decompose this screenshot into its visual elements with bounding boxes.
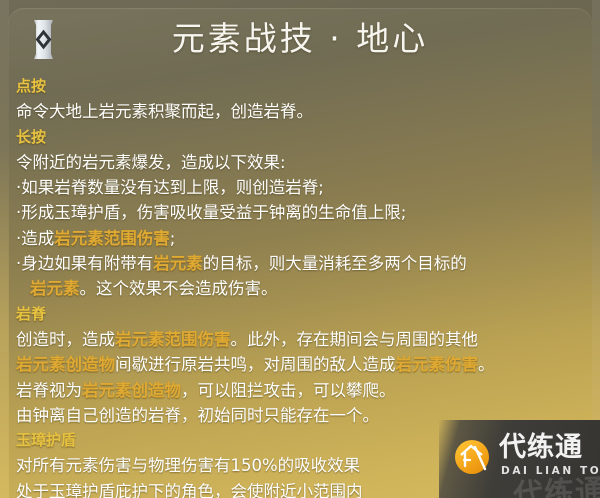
description-line: 岩元素创造物间歇进行原岩共鸣，对周围的敌人造成岩元素伤害。 — [16, 352, 592, 377]
body-text-run: ·身边如果有附带有 — [16, 254, 153, 273]
description-line: ·如果岩脊数量没有达到上限，则创造岩脊; — [16, 175, 592, 200]
description-line: 创造时，造成岩元素范围伤害。此外，存在期间会与周围的其他 — [16, 327, 592, 352]
dailiantong-logo-icon — [451, 436, 493, 478]
description-line: 岩元素。这个效果不会造成伤害。 — [16, 276, 592, 301]
highlight-term: 岩元素范围伤害 — [115, 330, 231, 349]
description-line: 岩脊视为岩元素创造物，可以阻拦攻击，可以攀爬。 — [16, 378, 592, 403]
highlight-term: 岩元素创造物 — [16, 355, 115, 374]
body-text-run: 处于玉璋护盾庇护下的角色，会使附近小范围内 — [16, 482, 363, 498]
highlight-term: 岩元素 — [16, 279, 80, 298]
description-line: ·身边如果有附带有岩元素的目标，则大量消耗至多两个目标的 — [16, 251, 592, 276]
highlight-term: 岩元素范围伤害 — [54, 229, 170, 248]
highlight-term: 岩元素伤害 — [396, 355, 479, 374]
body-text-run: ，可以阻拦攻击，可以攀爬。 — [181, 381, 396, 400]
body-text-run: ; — [170, 229, 176, 248]
section-heading: 岩脊 — [16, 302, 592, 327]
panel-header: 元素战技 · 地心 — [8, 8, 592, 74]
watermark-ghost-text: 代练通 — [512, 466, 600, 498]
description-line: 命令大地上岩元素积聚而起，创造岩脊。 — [16, 99, 592, 124]
body-text-run: 岩脊视为 — [16, 381, 82, 400]
section-heading: 点按 — [16, 74, 592, 99]
body-text-run: 对所有元素伤害与物理伤害有150%的吸收效果 — [16, 456, 360, 475]
skill-title: 元素战技 · 地心 — [8, 13, 592, 65]
body-text-run: ·如果岩脊数量没有达到上限，则创造岩脊; — [16, 178, 324, 197]
description-line: 令附近的岩元素爆发，造成以下效果: — [16, 150, 592, 175]
highlight-term: 岩元素 — [153, 254, 203, 273]
description-line: ·造成岩元素范围伤害; — [16, 226, 592, 251]
body-text-run: 。 — [478, 355, 495, 374]
body-text-run: 。这个效果不会造成伤害。 — [80, 279, 278, 298]
body-text-run: 创造时，造成 — [16, 330, 115, 349]
body-text-run: 间歇进行原岩共鸣，对周围的敌人造成 — [115, 355, 396, 374]
watermark-brand-cn: 代练通 — [499, 433, 583, 463]
section-heading: 长按 — [16, 125, 592, 150]
skill-description-screen: 元素战技 · 地心 点按命令大地上岩元素积聚而起，创造岩脊。长按令附近的岩元素爆… — [0, 0, 600, 498]
body-text-run: 由钟离自己创造的岩脊，初始同时只能存在一个。 — [16, 406, 379, 425]
body-text-run: ·造成 — [16, 229, 54, 248]
watermark: 代练通 DAI LIAN TONG 代练通 — [439, 420, 600, 498]
body-text-run: 。此外，存在期间会与周围的其他 — [231, 330, 479, 349]
highlight-term: 岩元素创造物 — [82, 381, 181, 400]
body-text-run: 令附近的岩元素爆发，造成以下效果: — [16, 153, 286, 172]
body-text-run: ·形成玉璋护盾，伤害吸收量受益于钟离的生命值上限; — [16, 203, 406, 222]
description-line: ·形成玉璋护盾，伤害吸收量受益于钟离的生命值上限; — [16, 200, 592, 225]
body-text-run: 命令大地上岩元素积聚而起，创造岩脊。 — [16, 102, 313, 121]
body-text-run: 的目标，则大量消耗至多两个目标的 — [203, 254, 467, 273]
